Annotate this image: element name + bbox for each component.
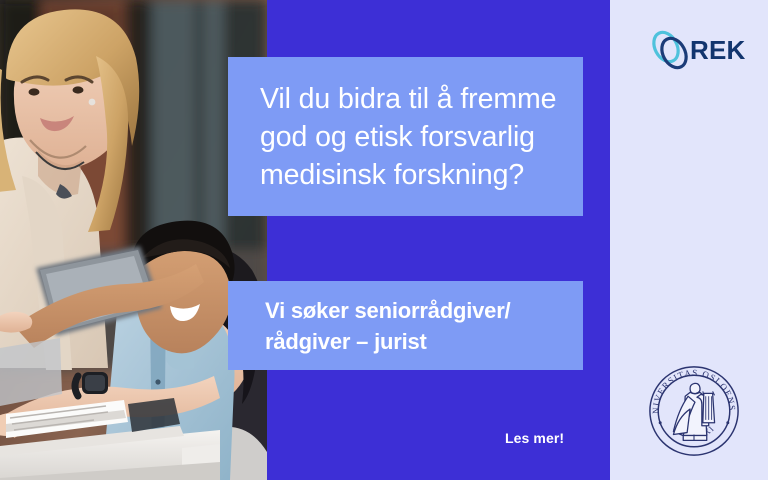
job-title-box: Vi søker seniorrådgiver/ rådgiver – juri…	[228, 281, 583, 370]
read-more-link[interactable]: Les mer!	[505, 430, 564, 446]
rek-logo[interactable]: REK	[648, 26, 740, 74]
rek-wordmark: REK	[690, 35, 746, 66]
recruitment-banner: Vil du bidra til å fremme god og etisk f…	[0, 0, 768, 480]
uio-apollo-seal: UNIVERSITAS OSLOENSIS MDCCCXI	[645, 362, 743, 460]
headline-text: Vil du bidra til å fremme god og etisk f…	[228, 80, 566, 194]
job-title-text: Vi søker seniorrådgiver/ rådgiver – juri…	[228, 295, 518, 357]
team-meeting-photo	[0, 0, 267, 480]
headline-box: Vil du bidra til å fremme god og etisk f…	[228, 57, 583, 216]
rek-interlocking-rings-icon	[648, 27, 694, 73]
